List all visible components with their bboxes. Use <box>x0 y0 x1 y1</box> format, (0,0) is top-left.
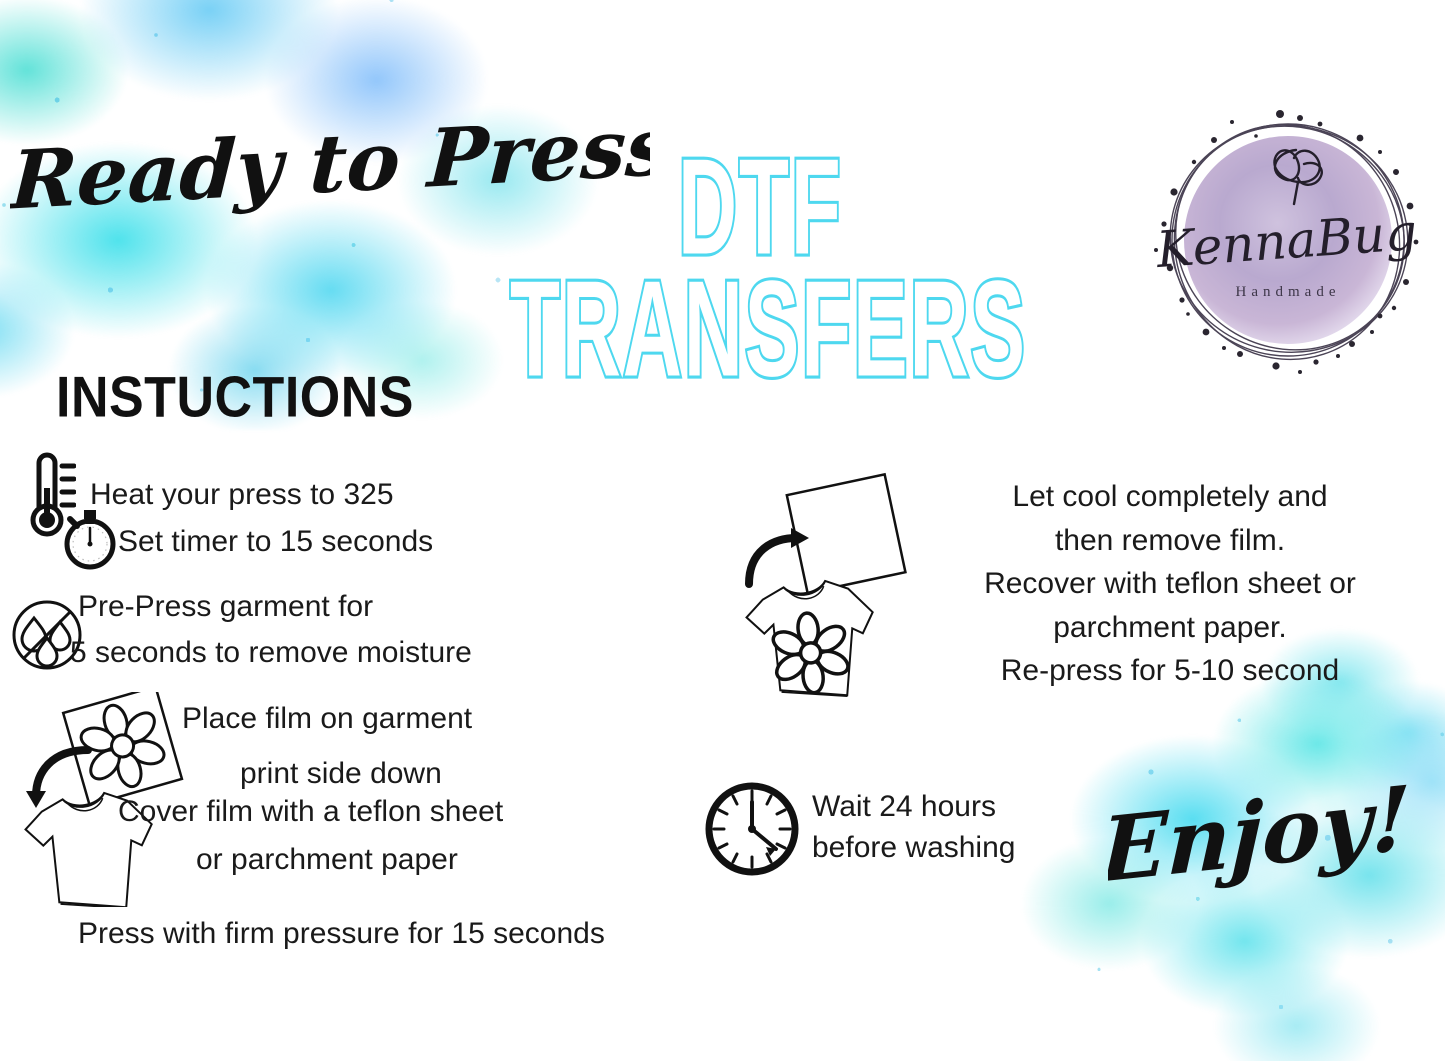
step-text-firm-pressure: Press with firm pressure for 15 seconds <box>78 915 605 953</box>
wait-step-block: Wait 24 hours before washing <box>812 787 1015 868</box>
headline-script-text: Ready to Press <box>10 126 650 228</box>
right-step-line-2: then remove film. <box>930 519 1410 563</box>
closing-script-enjoy: Enjoy! <box>1108 776 1408 921</box>
step-text-print-side-down: print side down <box>240 755 442 793</box>
step-text-prepress: Pre-Press garment for <box>78 588 373 626</box>
flyer-canvas: Ready to Press DTF TRANSFERS INSTUCTIONS <box>0 0 1445 1061</box>
headline-script-ready-to-press: Ready to Press <box>10 126 650 236</box>
peel-film-shirt-icon <box>735 466 935 716</box>
step-text-cover-film: Cover film with a teflon sheet <box>118 793 503 831</box>
right-step-line-3: Recover with teflon sheet or <box>930 562 1410 606</box>
right-step-line-5: Re-press for 5-10 second <box>930 649 1410 693</box>
blank-film-square <box>787 474 906 593</box>
title-line-transfers: TRANSFERS <box>510 250 1027 408</box>
step-text-parchment: or parchment paper <box>196 841 458 879</box>
brand-logo: KennaBug Handmade <box>1148 100 1428 380</box>
right-steps-block: Let cool completely and then remove film… <box>930 475 1410 693</box>
wait-step-line-2: before washing <box>812 828 1015 869</box>
logo-tagline: Handmade <box>1236 284 1341 300</box>
step-text-moisture: 5 seconds to remove moisture <box>70 634 472 672</box>
step-text-place-film: Place film on garment <box>182 700 472 738</box>
step-text-timer: Set timer to 15 seconds <box>118 523 433 561</box>
closing-script-text: Enjoy! <box>1108 776 1408 903</box>
right-step-line-4: parchment paper. <box>930 606 1410 650</box>
wait-step-line-1: Wait 24 hours <box>812 787 1015 828</box>
section-title-instructions: INSTUCTIONS <box>56 365 414 431</box>
clock-icon <box>700 777 804 881</box>
step-text-heat: Heat your press to 325 <box>90 476 394 514</box>
right-step-line-1: Let cool completely and <box>930 475 1410 519</box>
